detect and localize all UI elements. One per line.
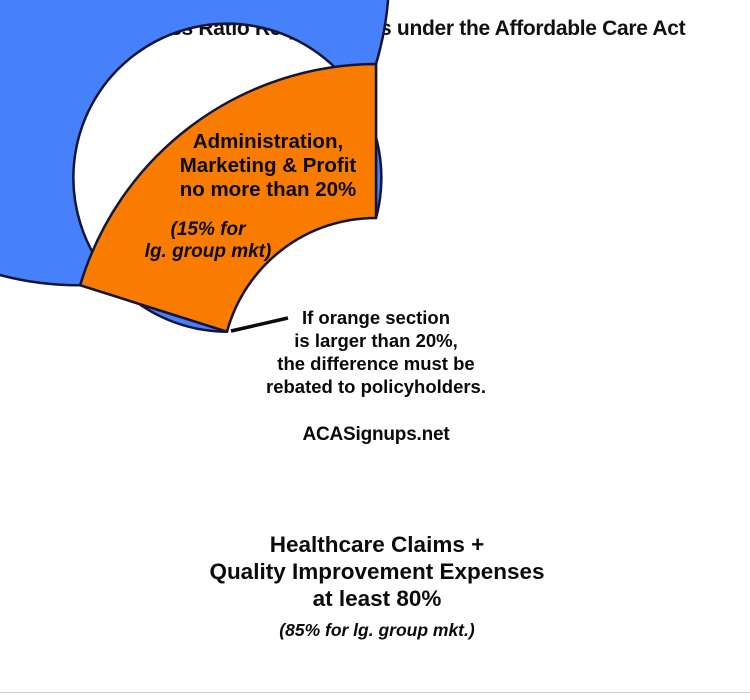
center-rebate-note: If orange section is larger than 20%, th… <box>226 307 526 399</box>
center-rebate-note-line4: rebated to policyholders. <box>226 376 526 399</box>
orange-slice-label-line2: Marketing & Profit <box>136 154 400 178</box>
blue-slice-label: Healthcare Claims + Quality Improvement … <box>146 531 608 612</box>
orange-slice-label: Administration, Marketing & Profit no mo… <box>136 130 400 201</box>
source-attribution: ACASignups.net <box>226 424 526 446</box>
orange-slice-label-line1: Administration, <box>136 130 400 154</box>
center-rebate-note-line3: the difference must be <box>226 353 526 376</box>
orange-slice-sublabel-line2: lg. group mkt) <box>96 241 320 263</box>
center-rebate-note-line2: is larger than 20%, <box>226 330 526 353</box>
blue-slice-label-line2: Quality Improvement Expenses <box>146 558 608 585</box>
blue-slice-label-line3: at least 80% <box>146 585 608 612</box>
orange-slice-label-line3: no more than 20% <box>136 178 400 202</box>
blue-slice-label-line1: Healthcare Claims + <box>146 531 608 558</box>
bottom-divider <box>0 692 750 693</box>
orange-slice-sublabel: (15% for lg. group mkt) <box>96 219 320 263</box>
blue-slice-sublabel: (85% for lg. group mkt.) <box>146 620 608 640</box>
orange-slice-sublabel-line1: (15% for <box>96 219 320 241</box>
center-rebate-note-line1: If orange section <box>226 307 526 330</box>
